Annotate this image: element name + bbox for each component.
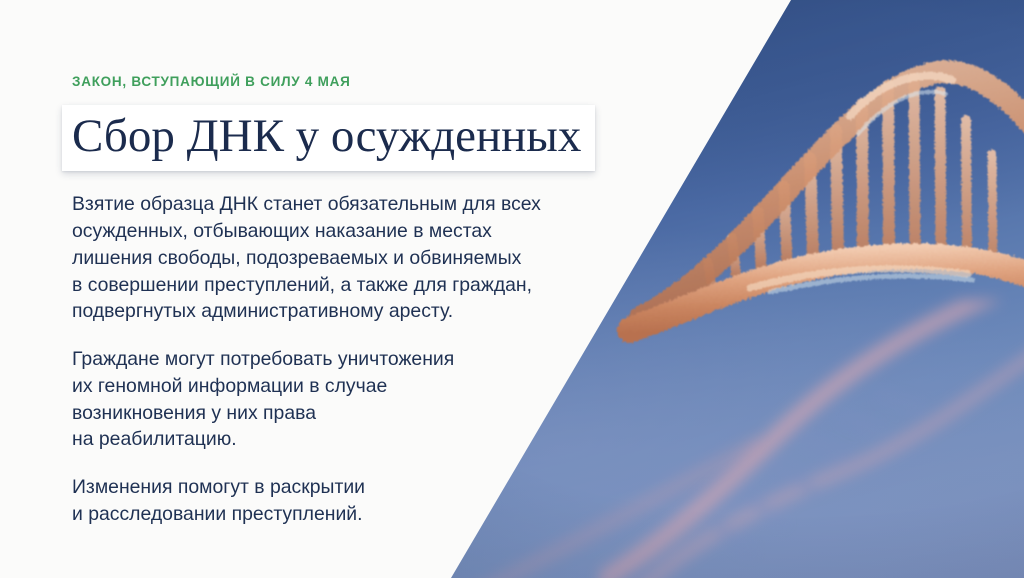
presentation-slide: ЗАКОН, ВСТУПАЮЩИЙ В СИЛУ 4 МАЯ Сбор ДНК … [0,0,1024,578]
slide-text-block: ЗАКОН, ВСТУПАЮЩИЙ В СИЛУ 4 МАЯ Сбор ДНК … [72,74,632,528]
body-paragraph-1: Взятие образца ДНК станет обязательным д… [72,191,632,325]
body-paragraph-2: Граждане могут потребовать уничтожения и… [72,346,632,453]
title-highlight-box: Сбор ДНК у осужденных [62,105,595,171]
page-title: Сбор ДНК у осужденных [72,112,581,161]
eyebrow-label: ЗАКОН, ВСТУПАЮЩИЙ В СИЛУ 4 МАЯ [72,74,632,89]
body-paragraph-3: Изменения помогут в раскрытии и расследо… [72,474,632,528]
